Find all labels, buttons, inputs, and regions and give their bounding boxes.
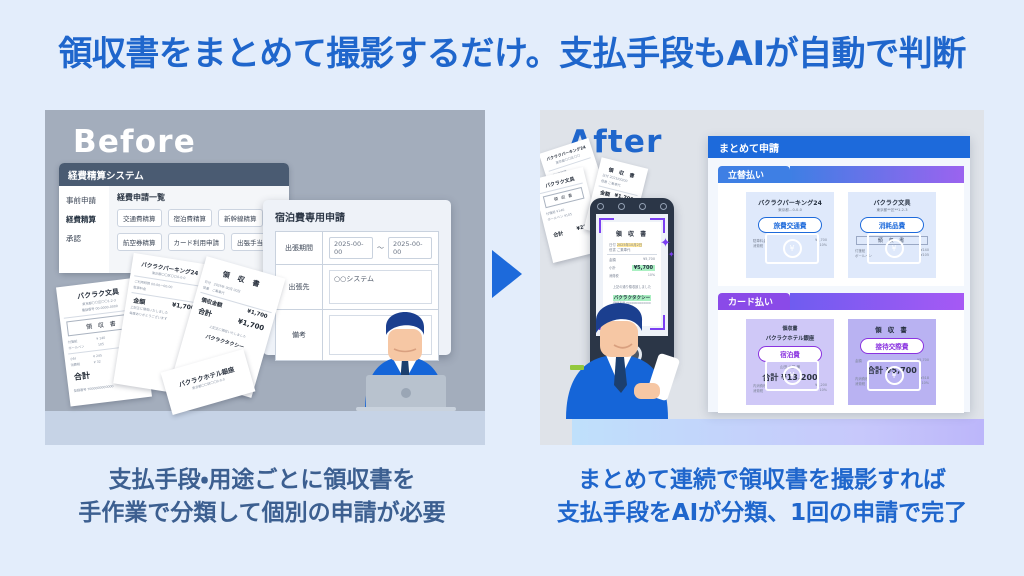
chip-card-use[interactable]: カード利用申請 [168, 233, 226, 251]
card-sub: 東京都…0-0-0 [746, 208, 834, 213]
sparkle-icon: ✦ [668, 250, 675, 259]
camera-toolbar [590, 198, 674, 210]
tab-card-payment[interactable]: カード払い [718, 293, 790, 310]
transition-arrow-icon [492, 250, 522, 298]
card-sub: 東京都**区**1-2-3 [848, 208, 936, 213]
card-tax-value: 10% [819, 388, 827, 393]
receipt-card-hotel[interactable]: 領収書 バクラクホテル銀座 宿泊費 山田 太郎 様 合計 ¥13,200 内消費… [746, 319, 834, 405]
sidebar-item-pre-application[interactable]: 事前申請 [59, 191, 109, 210]
card-doc-label: 領収書 [746, 325, 834, 332]
bundled-application-window: まとめて申請 立替払い バクラクパーキング24 東京都…0-0-0 旅費交通費 … [708, 136, 970, 412]
caption-after: まとめて連続で領収書を撮影すれば 支払手段をAIが分類、1回の申請で完了 [532, 464, 992, 529]
category-tag-supplies: 消耗品費 [860, 217, 924, 233]
card-tax-label: 消費税 [855, 381, 865, 386]
chip-row-2: 航空券精算 カード利用申請 出張手当 [117, 233, 283, 251]
after-panel: After バクラクパーキング24 東京都〇〇区〇〇 ご利用時間駐車料金 ¥1,… [540, 110, 984, 445]
form-row-period: 出張期間 2025-00-00 ～ 2025-00-00 [276, 232, 438, 265]
section-bar [790, 293, 964, 310]
expense-system-window: 経費精算システム 事前申請 経費精算 承認 経費申請一覧 交通費精算 宿泊費精算… [59, 163, 289, 273]
scan-corner-icon [650, 218, 665, 233]
gallery-icon[interactable] [660, 203, 667, 210]
page-title: 領収書をまとめて撮影するだけ。支払手段もAIが自動で判断 [0, 26, 1024, 75]
section-card-payment: カード払い 領収書 バクラクホテル銀座 宿泊費 山田 太郎 様 合計 ¥13,2… [718, 293, 964, 413]
card-tax-label: 消費税 [753, 388, 763, 393]
card-shop: バクラク文具 [848, 198, 936, 207]
caption-before: 支払手段・用途ごとに領収書を 手作業で分類して個別の申請が必要 [32, 464, 492, 529]
chip-airticket[interactable]: 航空券精算 [117, 233, 162, 251]
receipt-card-parking[interactable]: バクラクパーキング24 東京都…0-0-0 旅費交通費 駐車料金¥1,700 消… [746, 192, 834, 278]
category-tag-transport: 旅費交通費 [758, 217, 822, 233]
expense-list-heading: 経費申請一覧 [117, 192, 283, 203]
scan-date: 2025年10月2日 [617, 243, 642, 247]
expense-sidebar: 事前申請 経費精算 承認 [59, 186, 109, 273]
caption-after-line1: まとめて連続で領収書を撮影すれば [532, 464, 992, 497]
payment-card-icon: ¥ [867, 360, 921, 391]
sidebar-item-expense[interactable]: 経費精算 [59, 210, 109, 229]
before-label: Before [73, 124, 196, 160]
settings-icon[interactable] [618, 203, 625, 210]
illustration-worried-employee [320, 271, 485, 411]
date-separator: ～ [377, 243, 384, 253]
desk-surface-after [572, 419, 984, 445]
section-bar [790, 166, 964, 183]
slide: 領収書をまとめて撮影するだけ。支払手段もAIが自動で判断 Before 経費精算… [0, 0, 1024, 576]
flash-icon[interactable] [597, 203, 604, 210]
before-panel: Before 経費精算システム 事前申請 経費精算 承認 経費申請一覧 交通費精… [45, 110, 485, 445]
category-tag-entertainment: 接待交際費 [860, 338, 924, 354]
sidebar-item-approval[interactable]: 承認 [59, 229, 109, 248]
chip-lodging[interactable]: 宿泊費精算 [168, 209, 213, 227]
caption-after-line2: 支払手段をAIが分類、1回の申請で完了 [532, 497, 992, 530]
card-tax-value: 10% [921, 381, 929, 386]
date-to-field[interactable]: 2025-00-00 [388, 237, 432, 259]
expense-system-title: 経費精算システム [59, 163, 289, 186]
section-advance-payment: 立替払い バクラクパーキング24 東京都…0-0-0 旅費交通費 駐車料金¥1,… [718, 166, 964, 286]
chip-row-1: 交通費精算 宿泊費精算 新幹線精算 [117, 209, 283, 227]
card-shop: バクラクパーキング24 [746, 198, 834, 207]
payment-card-icon: ¥ [765, 360, 819, 391]
card-shop: バクラクホテル銀座 [746, 334, 834, 342]
payment-card-icon: ¥ [765, 233, 819, 264]
card-doc-label: 領 収 書 [848, 325, 936, 334]
receipt-card-entertainment[interactable]: 領 収 書 接待交際費 金額¥5,700 合計 ¥5,700 内消費税¥518 … [848, 319, 936, 405]
desk-surface-before [45, 411, 485, 445]
caption-before-line1: 支払手段・用途ごとに領収書を [32, 464, 492, 497]
scan-corner-icon [599, 218, 614, 233]
bundled-application-title: まとめて申請 [708, 136, 970, 158]
chip-shinkansen[interactable]: 新幹線精算 [218, 209, 263, 227]
caption-before-line2: 手作業で分類して個別の申請が必要 [32, 497, 492, 530]
label-period: 出張期間 [276, 232, 323, 264]
payment-card-icon: ¥ [867, 233, 921, 264]
dialog-title: 宿泊費専用申請 [263, 200, 451, 231]
receipt-total-label: 合計 [73, 370, 90, 383]
illustration-smiling-employee [548, 259, 698, 419]
date-from-field[interactable]: 2025-00-00 [329, 237, 373, 259]
tab-advance-payment[interactable]: 立替払い [718, 166, 790, 183]
label-remarks: 備考 [276, 310, 323, 360]
sparkle-icon: ✦ [660, 236, 671, 251]
timer-icon[interactable] [639, 203, 646, 210]
receipt-card-stationery[interactable]: バクラク文具 東京都**区**1-2-3 消耗品費 領 収 書 付箋紙¥140 … [848, 192, 936, 278]
chip-transport[interactable]: 交通費精算 [117, 209, 162, 227]
